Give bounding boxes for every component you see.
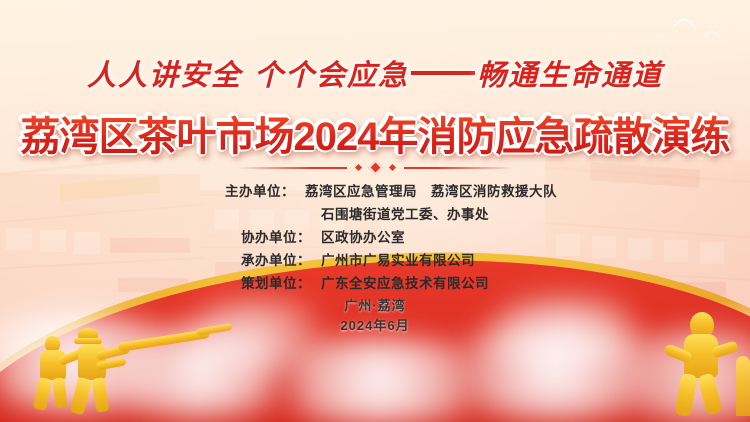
organizer-row: 承办单位： 广州市广易实业有限公司: [225, 249, 525, 269]
organizer-block: 主办单位： 荔湾区应急管理局 荔湾区消防救援大队 石围塘街道党工委、办事处 协办…: [0, 180, 750, 292]
organizer-label: 策划单位：: [225, 272, 311, 292]
organizer-row: 主办单位： 荔湾区应急管理局 荔湾区消防救援大队: [225, 180, 525, 200]
subtitle-part2: 畅通生命通道: [477, 58, 663, 92]
divider-line-left: [237, 167, 347, 169]
divider-dot-right: [388, 164, 395, 171]
organizer-value: 荔湾区应急管理局 荔湾区消防救援大队: [305, 180, 557, 200]
page-title: 荔湾区茶叶市场2024年消防应急疏散演练: [0, 104, 750, 162]
organizer-row: 石围塘街道党工委、办事处: [225, 203, 525, 223]
em-dash-icon: [411, 71, 475, 75]
footer-location: 广州·荔湾: [0, 296, 750, 316]
diamond-ornament-icon: [367, 160, 383, 176]
footer-date: 2024年6月: [0, 316, 750, 336]
organizer-row: 协办单位： 区政协办公室: [225, 226, 525, 246]
divider-dot-left: [354, 164, 361, 171]
organizer-row: 策划单位： 广东全安应急技术有限公司: [225, 272, 525, 292]
organizer-value: 石围塘街道党工委、办事处: [321, 203, 489, 223]
poster-footer: 广州·荔湾 2024年6月: [0, 296, 750, 336]
decorative-divider: [0, 162, 750, 173]
subtitle-part1: 人人讲安全 个个会应急: [87, 58, 409, 92]
organizer-value: 区政协办公室: [321, 226, 405, 246]
organizer-value: 广州市广易实业有限公司: [321, 249, 475, 269]
organizer-label: 协办单位：: [225, 226, 311, 246]
divider-line-right: [404, 167, 514, 169]
organizer-value: 广东全安应急技术有限公司: [321, 272, 489, 292]
organizer-label: 承办单位：: [225, 249, 311, 269]
poster-canvas: 人人讲安全 个个会应急畅通生命通道 荔湾区茶叶市场2024年消防应急疏散演练 主…: [0, 0, 750, 422]
organizer-label: 主办单位：: [225, 180, 295, 200]
poster-subtitle: 人人讲安全 个个会应急畅通生命通道: [0, 52, 750, 94]
